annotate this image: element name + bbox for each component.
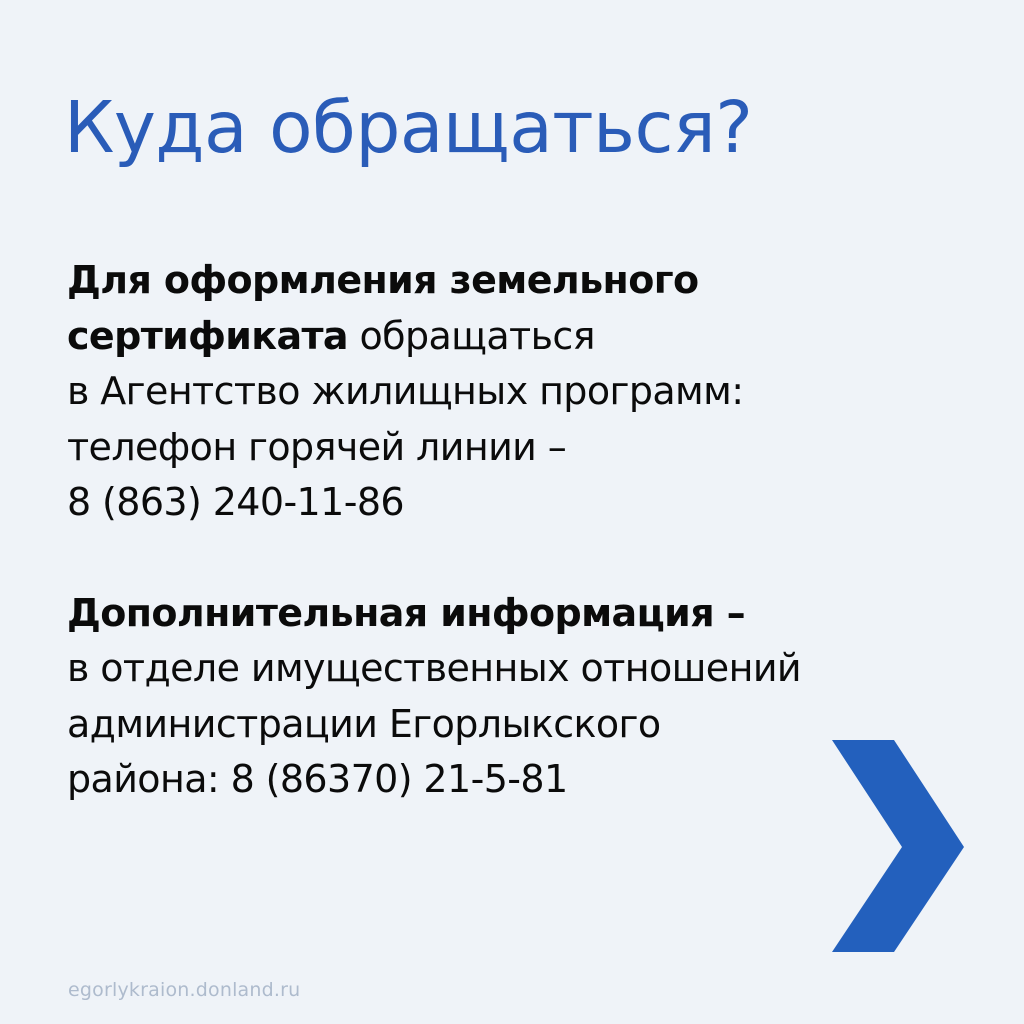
chevron-right-icon	[832, 740, 964, 952]
page-title: Куда обращаться?	[64, 92, 752, 163]
paragraph-1-line-2: телефон горячей линии –	[67, 420, 967, 476]
footer-site-url: egorlykraion.donland.ru	[68, 979, 300, 1001]
body-content: Для оформления земельного сертификата об…	[67, 253, 967, 808]
slide-canvas: Куда обращаться? Для оформления земельно…	[0, 0, 1024, 1024]
paragraph-1-line-1: в Агентство жилищных программ:	[67, 364, 967, 420]
paragraph-1-phone: 8 (863) 240-11-86	[67, 475, 967, 531]
paragraph-land-certificate: Для оформления земельного сертификата об…	[67, 253, 967, 531]
paragraph-2-line-1: в отделе имущественных отношений	[67, 641, 967, 697]
paragraph-1-bold-line-2: сертификата	[67, 314, 348, 358]
paragraph-2-bold-line-1: Дополнительная информация –	[67, 586, 967, 642]
paragraph-1-bold-line-1: Для оформления земельного	[67, 253, 967, 309]
paragraph-1-inline-rest: обращаться	[348, 314, 595, 358]
